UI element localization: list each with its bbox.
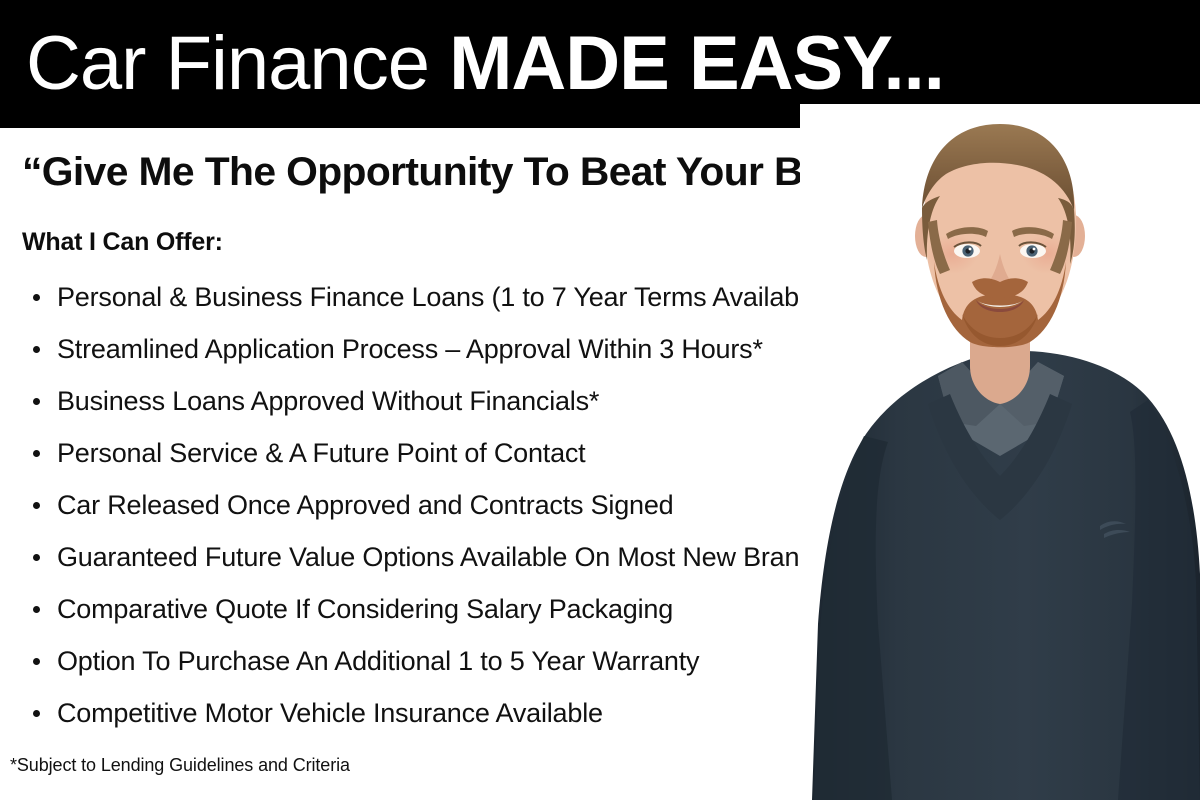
list-item: Comparative Quote If Considering Salary …: [0, 583, 880, 635]
bullet-dot-icon: [33, 554, 40, 561]
list-item: Option To Purchase An Additional 1 to 5 …: [0, 635, 880, 687]
list-item: Guaranteed Future Value Options Availabl…: [0, 531, 880, 583]
list-item: Competitive Motor Vehicle Insurance Avai…: [0, 687, 880, 739]
footnote-disclaimer: *Subject to Lending Guidelines and Crite…: [10, 755, 350, 776]
bullet-dot-icon: [33, 398, 40, 405]
car-finance-flyer: Car Finance MADE EASY... “Give Me The Op…: [0, 0, 1200, 800]
bullet-dot-icon: [33, 294, 40, 301]
bullet-dot-icon: [33, 502, 40, 509]
list-item-label: Streamlined Application Process – Approv…: [57, 334, 763, 365]
list-item-label: Personal & Business Finance Loans (1 to …: [57, 282, 828, 313]
page-title-light: Car Finance: [26, 21, 449, 106]
list-item-label: Competitive Motor Vehicle Insurance Avai…: [57, 698, 603, 729]
offer-bullet-list: Personal & Business Finance Loans (1 to …: [0, 271, 880, 739]
list-item: Streamlined Application Process – Approv…: [0, 323, 880, 375]
list-item-label: Personal Service & A Future Point of Con…: [57, 438, 585, 469]
list-item-label: Guaranteed Future Value Options Availabl…: [57, 542, 827, 573]
page-title-bold: MADE EASY...: [449, 21, 944, 106]
list-item: Personal & Business Finance Loans (1 to …: [0, 271, 880, 323]
page-title: Car Finance MADE EASY...: [26, 26, 944, 102]
list-item: Personal Service & A Future Point of Con…: [0, 427, 880, 479]
content-area: “Give Me The Opportunity To Beat Your Be…: [0, 128, 1200, 800]
list-item-label: Option To Purchase An Additional 1 to 5 …: [57, 646, 699, 677]
bullet-dot-icon: [33, 606, 40, 613]
headline-quote: “Give Me The Opportunity To Beat Your Be…: [22, 150, 1195, 195]
list-item-label: Comparative Quote If Considering Salary …: [57, 594, 673, 625]
header-banner: Car Finance MADE EASY...: [0, 0, 1200, 128]
list-item: Business Loans Approved Without Financia…: [0, 375, 880, 427]
bullet-dot-icon: [33, 710, 40, 717]
list-item: Car Released Once Approved and Contracts…: [0, 479, 880, 531]
bullet-dot-icon: [33, 450, 40, 457]
bullet-dot-icon: [33, 658, 40, 665]
list-item-label: Car Released Once Approved and Contracts…: [57, 490, 673, 521]
bullet-dot-icon: [33, 346, 40, 353]
list-item-label: Business Loans Approved Without Financia…: [57, 386, 599, 417]
offer-list-label: What I Can Offer:: [22, 228, 223, 257]
